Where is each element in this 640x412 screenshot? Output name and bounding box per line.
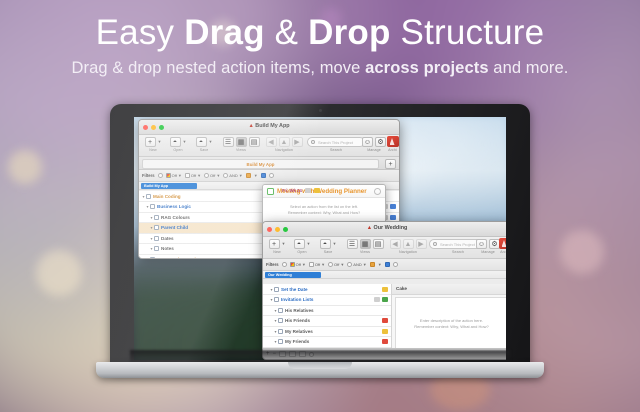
chevron-down-icon[interactable]: ▼ — [321, 262, 325, 267]
plus-icon[interactable]: + — [145, 137, 156, 147]
tree-row[interactable]: ▾His Friends — [263, 316, 391, 326]
popup-placeholder-line2: Remember context: Why, What and How? — [288, 210, 360, 215]
tree-row-badges[interactable] — [381, 339, 391, 344]
chevron-down-icon[interactable]: ▼ — [282, 241, 286, 246]
back-window-toolbar[interactable]: +▼ New ◓▼ Open ◓▼ Save ☰▦▤ Views — [139, 135, 399, 157]
tree-row-badges[interactable] — [381, 318, 391, 323]
tree-row[interactable]: ▾My Relatives — [263, 326, 391, 336]
nav-up-icon[interactable]: ▲ — [279, 137, 290, 147]
subtitle-pre: Drag & drop nested action items, move — [72, 59, 366, 77]
tree-row[interactable]: ▾Invitation Lists — [263, 295, 391, 305]
colour-swatch-icon — [290, 262, 295, 267]
status-badge[interactable] — [382, 339, 388, 344]
subtitle-emphasis: across projects — [365, 59, 488, 77]
chevron-down-icon[interactable]: ▼ — [333, 241, 337, 246]
status-badge[interactable] — [382, 297, 388, 302]
status-badge[interactable] — [382, 318, 388, 323]
checkbox-icon[interactable] — [274, 297, 279, 302]
progress-ring-icon[interactable] — [374, 188, 381, 195]
toolbar-group-archi[interactable]: Archi — [497, 238, 506, 254]
title-part-drag: Drag — [184, 13, 265, 52]
tree-row-label: Business Logic — [157, 204, 191, 209]
toolbar-group-views[interactable]: ☰▦▤ Views — [221, 136, 261, 152]
chevron-down-icon[interactable]: ▼ — [209, 139, 213, 144]
archi-doc-icon: ▲ — [248, 123, 253, 129]
tree-row-label: Notes — [161, 246, 174, 251]
chevron-down-icon[interactable]: ▼ — [183, 139, 187, 144]
subtitle-post: and more. — [489, 59, 569, 77]
toolbar-label-manage: Manage — [361, 148, 387, 152]
toolbar-group-save[interactable]: ◓▼ Save — [193, 136, 215, 152]
filter-apply-icon[interactable] — [385, 262, 390, 267]
save-icon[interactable]: ◓ — [320, 239, 331, 249]
toolbar-group-open[interactable]: ◓▼ Open — [167, 136, 189, 152]
view-list-icon[interactable]: ☰ — [223, 137, 234, 147]
checkbox-icon — [185, 173, 190, 178]
back-window-tabbar[interactable]: Build My App + — [139, 157, 399, 170]
filters-label: Filters — [142, 173, 155, 178]
archi-doc-icon: ▲ — [367, 225, 372, 231]
toolbar-label-search: Search — [307, 148, 365, 152]
tree-row-label: Parent Child — [161, 225, 188, 230]
tree-row-label: Presentation Logic — [157, 257, 198, 258]
filter-search-icon[interactable] — [158, 173, 163, 178]
tab-build-my-app[interactable]: Build My App — [142, 159, 379, 169]
tree-row[interactable]: ▾My Friends — [263, 337, 391, 347]
toolbar-group-views[interactable]: ☰▦▤ Views — [345, 238, 385, 254]
laptop-base — [96, 362, 544, 378]
filter-chip-label: AND — [229, 173, 237, 178]
toolbar-label-navigation: Navigation — [387, 250, 429, 254]
logic-icon — [223, 173, 228, 178]
tree-row-label: Main Coding — [153, 194, 181, 199]
filter-reset-icon[interactable] — [393, 262, 398, 267]
checkbox-icon[interactable] — [278, 318, 283, 323]
filter-chip-label: Off — [296, 262, 301, 267]
tree-row-label: Set the Date — [281, 287, 308, 292]
logic-icon — [347, 262, 352, 267]
checkbox-icon — [309, 262, 314, 267]
checkbox-icon[interactable] — [150, 204, 155, 209]
checkbox-icon[interactable] — [278, 329, 283, 334]
checkbox-icon[interactable] — [278, 339, 283, 344]
tree-row-badges[interactable] — [381, 329, 391, 334]
add-tab-button[interactable]: + — [385, 159, 396, 169]
toolbar-group-new[interactable]: +▼ New — [267, 238, 287, 254]
chevron-down-icon[interactable]: ▼ — [158, 139, 162, 144]
search-input[interactable]: Search This Project — [307, 137, 365, 147]
chevron-down-icon[interactable]: ▼ — [216, 173, 220, 178]
status-badge[interactable] — [382, 329, 388, 334]
toolbar-group-navigation[interactable]: ◀▲▶ Navigation — [263, 136, 305, 152]
nav-forward-icon[interactable]: ▶ — [416, 239, 427, 249]
filter-chip-label: Off — [210, 173, 215, 178]
bokeh-dot — [36, 250, 82, 296]
tree-row-label: My Friends — [285, 339, 309, 344]
chevron-down-icon[interactable]: ▼ — [378, 262, 382, 267]
popup-date-icon[interactable] — [305, 188, 311, 193]
tree-row-label: Dates — [161, 236, 174, 241]
toolbar-group-navigation[interactable]: ◀▲▶ Navigation — [387, 238, 429, 254]
nav-back-icon[interactable]: ◀ — [266, 137, 277, 147]
laptop-mockup: ▲ Build My App +▼ New ◓▼ Open ◓▼ — [96, 104, 544, 394]
tree-row-label: Invitation Lists — [281, 297, 313, 302]
checkbox-icon[interactable] — [154, 246, 159, 251]
toolbar-label-new: New — [267, 250, 287, 254]
toolbar-group-save[interactable]: ◓▼ Save — [317, 238, 339, 254]
page-subtitle: Drag & drop nested action items, move ac… — [0, 59, 640, 78]
nav-forward-icon[interactable]: ▶ — [292, 137, 303, 147]
view-list-icon[interactable]: ☰ — [347, 239, 358, 249]
chevron-down-icon[interactable]: ▼ — [302, 262, 306, 267]
laptop-screen: ▲ Build My App +▼ New ◓▼ Open ◓▼ — [134, 117, 506, 360]
filter-chip-label: Off — [334, 262, 339, 267]
filter-search-icon[interactable] — [282, 262, 287, 267]
toolbar-label-new: New — [143, 148, 163, 152]
tree-row-label: RAG Colours — [161, 215, 190, 220]
view-columns-icon[interactable]: ▤ — [373, 239, 384, 249]
popup-flag-icon[interactable] — [314, 188, 320, 193]
chevron-down-icon[interactable]: ▼ — [254, 173, 258, 178]
toolbar-group-manage[interactable]: ☺⚙ Manage — [361, 136, 387, 152]
title-part-structure: Structure — [391, 13, 545, 52]
tree-row[interactable]: ▾His Relatives — [263, 305, 391, 315]
popup-placeholder-line1: Select an action from the list on the le… — [290, 204, 358, 209]
filter-flag-icon[interactable] — [246, 173, 251, 178]
action-popup-card[interactable]: Meeting with Wedding Planner Select an a… — [262, 184, 386, 224]
filter-flag-icon[interactable] — [370, 262, 375, 267]
chevron-down-icon[interactable]: ▼ — [340, 262, 344, 267]
filter-chip-status[interactable]: Off▼ — [185, 173, 201, 178]
open-folder-icon[interactable]: ◓ — [294, 239, 305, 249]
open-folder-icon[interactable]: ◓ — [170, 137, 181, 147]
status-badge[interactable] — [390, 215, 396, 220]
checkbox-icon[interactable] — [154, 236, 159, 241]
filter-chip-label: Off — [191, 173, 196, 178]
checkbox-icon[interactable] — [278, 308, 283, 313]
colour-swatch-icon — [166, 173, 171, 178]
status-badge[interactable] — [390, 204, 396, 209]
laptop-notch — [288, 362, 352, 369]
toolbar-group-new[interactable]: +▼ New — [143, 136, 163, 152]
back-window-filter-bar[interactable]: Filters Off▼ Off▼ Off▼ AND▼ ▼ — [139, 170, 399, 182]
popup-date-badge[interactable]: Fri, Wk 24 — [282, 188, 320, 193]
checkbox-icon[interactable] — [267, 188, 274, 195]
save-icon[interactable]: ◓ — [196, 137, 207, 147]
checkbox-icon[interactable] — [154, 215, 159, 220]
chevron-down-icon[interactable]: ▼ — [363, 262, 367, 267]
filter-reset-icon[interactable] — [269, 173, 274, 178]
checkbox-icon[interactable] — [154, 225, 159, 230]
detail-placeholder-line1: Enter description of the action here. — [420, 318, 483, 323]
owner-icon — [328, 262, 333, 267]
tree-row-badges[interactable] — [381, 287, 391, 292]
checkbox-icon[interactable] — [150, 257, 155, 258]
tree-row-label: His Relatives — [285, 308, 314, 313]
plus-icon[interactable]: + — [269, 239, 280, 249]
filter-chip-owner[interactable]: Off▼ — [328, 262, 344, 267]
detail-placeholder-line2: Remember context: Why, What and How? — [414, 324, 488, 329]
filter-chip-label: Off — [172, 173, 177, 178]
chevron-down-icon[interactable]: ▼ — [197, 173, 201, 178]
toolbar-group-search[interactable]: Search This Project Search — [307, 136, 365, 152]
headline-block: Easy Drag & Drop Structure Drag & drop n… — [0, 0, 640, 78]
detail-description-field[interactable]: Enter description of the action here. Re… — [395, 297, 506, 350]
popup-date-text: Fri, Wk 24 — [282, 188, 302, 193]
toolbar-group-archi[interactable]: Archi — [385, 136, 400, 152]
title-part-amp: & — [265, 13, 308, 52]
toolbar-label-save: Save — [193, 148, 215, 152]
filter-chip-logic[interactable]: AND▼ — [223, 173, 242, 178]
filter-chip-colour[interactable]: Off▼ — [166, 173, 182, 178]
selected-project-pill[interactable]: Our Wedding — [265, 272, 321, 278]
page-title: Easy Drag & Drop Structure — [0, 12, 640, 53]
toolbar-label-archi: Archi — [385, 148, 400, 152]
front-window-tree[interactable]: ▾Set the Date▾Invitation Lists▾His Relat… — [263, 284, 391, 348]
laptop-lid: ▲ Build My App +▼ New ◓▼ Open ◓▼ — [110, 104, 530, 372]
title-part-drop: Drop — [308, 13, 390, 52]
back-window-title-text: Build My App — [255, 123, 289, 129]
status-badge[interactable] — [382, 287, 388, 292]
tree-row-label: His Friends — [285, 318, 310, 323]
archi-app-icon[interactable] — [499, 238, 507, 249]
tree-row-label: My Relatives — [285, 329, 313, 334]
back-window-title: ▲ Build My App — [139, 123, 399, 129]
filter-chip-colour[interactable]: Off▼ — [290, 262, 306, 267]
selected-project-pill[interactable]: Build My App — [141, 183, 197, 189]
front-window-detail-pane[interactable]: Cake Enter description of the action her… — [391, 284, 506, 348]
nav-up-icon[interactable]: ▲ — [403, 239, 414, 249]
view-layout-icon[interactable]: ▦ — [360, 239, 371, 249]
chevron-down-icon[interactable]: ▼ — [307, 241, 311, 246]
search-icon — [433, 242, 437, 246]
front-window-titlebar[interactable]: ▲ Our Wedding — [263, 222, 506, 237]
back-window-titlebar[interactable]: ▲ Build My App — [139, 120, 399, 135]
toolbar-label-archi: Archi — [497, 250, 506, 254]
checkbox-icon[interactable] — [274, 287, 279, 292]
toolbar-label-open: Open — [167, 148, 189, 152]
toolbar-label-open: Open — [291, 250, 313, 254]
front-window-toolbar[interactable]: +▼ New ◓▼ Open ◓▼ Save ☰▦▤ Views — [263, 237, 506, 259]
filter-apply-icon[interactable] — [261, 173, 266, 178]
detail-header: Cake — [392, 284, 506, 295]
view-layout-icon[interactable]: ▦ — [236, 137, 247, 147]
people-icon[interactable]: ☺ — [476, 239, 487, 249]
view-columns-icon[interactable]: ▤ — [249, 137, 260, 147]
filter-chip-label: AND — [353, 262, 361, 267]
chevron-down-icon[interactable]: ▼ — [239, 173, 243, 178]
front-window-title: ▲ Our Wedding — [263, 225, 506, 231]
front-window-title-text: Our Wedding — [374, 225, 408, 231]
people-icon[interactable]: ☺ — [362, 137, 373, 147]
filter-chip-status[interactable]: Off▼ — [309, 262, 325, 267]
front-window-filter-bar[interactable]: Filters Off▼ Off▼ Off▼ AND▼ ▼ — [263, 259, 506, 271]
checkbox-icon[interactable] — [146, 194, 151, 199]
owner-icon — [204, 173, 209, 178]
filter-chip-label: Off — [315, 262, 320, 267]
bokeh-dot — [8, 150, 42, 184]
bokeh-dot — [560, 230, 604, 274]
filter-chip-logic[interactable]: AND▼ — [347, 262, 366, 267]
nav-back-icon[interactable]: ◀ — [390, 239, 401, 249]
search-icon — [311, 140, 315, 144]
toolbar-label-views: Views — [345, 250, 385, 254]
toolbar-label-navigation: Navigation — [263, 148, 305, 152]
tree-row[interactable]: ▾Set the Date — [263, 284, 391, 294]
webcam-icon — [319, 109, 322, 112]
front-window-selection-bar: Our Wedding — [263, 271, 506, 279]
window-our-wedding[interactable]: ▲ Our Wedding +▼ New ◓▼ Open ◓▼ — [262, 221, 506, 360]
filter-chip-owner[interactable]: Off▼ — [204, 173, 220, 178]
status-badge[interactable] — [374, 297, 380, 302]
popup-body: Select an action from the list on the le… — [263, 198, 385, 222]
archi-app-icon[interactable] — [387, 136, 399, 147]
toolbar-label-save: Save — [317, 250, 339, 254]
title-part-easy: Easy — [96, 13, 185, 52]
toolbar-group-open[interactable]: ◓▼ Open — [291, 238, 313, 254]
chevron-down-icon[interactable]: ▼ — [178, 173, 182, 178]
tree-row-badges[interactable] — [373, 297, 391, 302]
toolbar-label-views: Views — [221, 148, 261, 152]
filters-label: Filters — [266, 262, 279, 267]
